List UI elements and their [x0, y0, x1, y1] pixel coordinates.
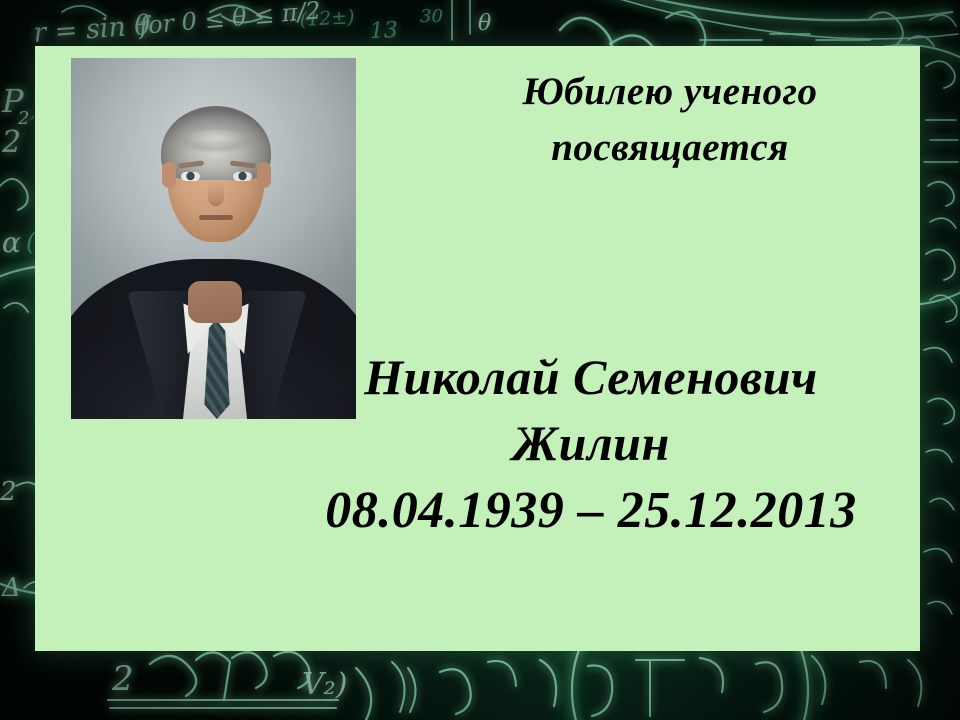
- svg-text:α: α: [2, 226, 21, 259]
- svg-text:V₂): V₂): [302, 667, 347, 702]
- tribute-heading-line-1: Юбилею ученого: [420, 64, 920, 120]
- svg-text:2: 2: [111, 659, 134, 699]
- svg-text:2: 2: [0, 477, 17, 507]
- svg-text:r = sin θ: r = sin θ: [32, 10, 151, 49]
- tribute-heading-line-2: посвящается: [420, 120, 920, 176]
- subject-info: Николай Семенович Жилин 08.04.1939 – 25.…: [262, 344, 920, 542]
- tribute-heading: Юбилею ученого посвящается: [420, 64, 920, 176]
- svg-text:30: 30: [420, 6, 443, 27]
- svg-text:Δ: Δ: [1, 573, 21, 603]
- svg-text:(12±): (12±): [299, 6, 355, 31]
- presentation-slide: r = sin θ for 0 ≤ θ ≤ π/2 (12±) 13 θ 30 …: [0, 0, 960, 720]
- svg-text:θ: θ: [478, 11, 491, 36]
- subject-name-line-1: Николай Семенович: [262, 344, 920, 410]
- subject-life-dates: 08.04.1939 – 25.12.2013: [262, 480, 920, 542]
- subject-name-line-2: Жилин: [262, 410, 920, 476]
- svg-text:2: 2: [1, 125, 21, 160]
- svg-text:13: 13: [369, 18, 398, 44]
